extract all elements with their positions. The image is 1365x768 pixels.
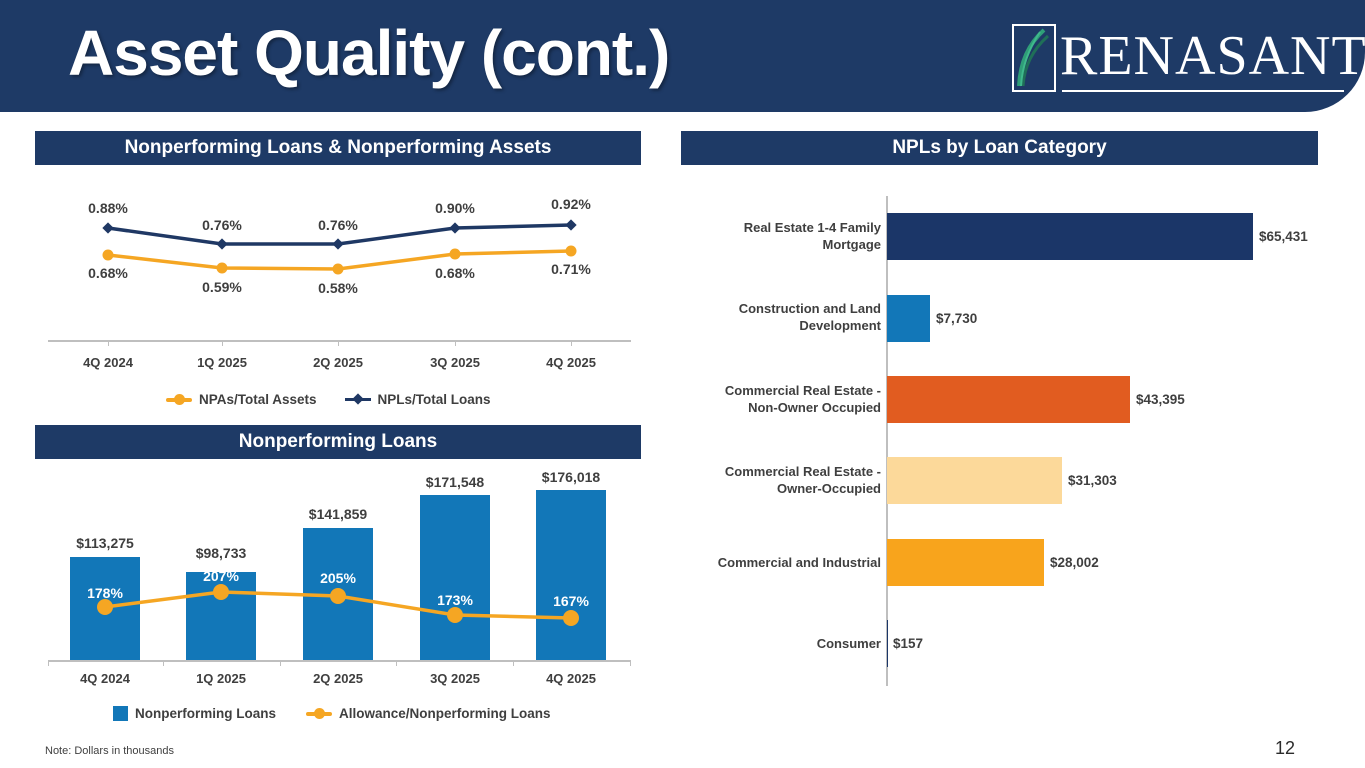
hbar-cat-5: Consumer (646, 635, 881, 652)
legend-item-npl-bars[interactable]: Nonperforming Loans (113, 706, 276, 721)
x2-tick-start (48, 660, 49, 666)
hbar-cat-1: Construction and Land Development (646, 300, 881, 334)
footnote: Note: Dollars in thousands (45, 745, 174, 757)
legend-swatch-npl-icon (113, 706, 128, 721)
pct-label-1: 207% (171, 568, 271, 584)
renasant-logo: RENASANT (1012, 24, 1344, 96)
logo-underline (1062, 90, 1344, 92)
x2-cat-label-0: 4Q 2024 (55, 671, 155, 686)
hbar-cat-4-line1: Commercial and Industrial (646, 554, 881, 571)
x2-cat-label-3: 3Q 2025 (405, 671, 505, 686)
logo-wordmark: RENASANT (1060, 28, 1365, 84)
x2-tick-3 (513, 660, 514, 666)
pct-label-0: 178% (55, 585, 155, 601)
hbar-cat-1-line2: Development (646, 317, 881, 334)
hbar-val-4: $28,002 (1050, 554, 1099, 571)
panel-title-npl-category: NPLs by Loan Category (681, 131, 1318, 165)
y-axis-line-3 (886, 196, 888, 686)
legend-marker-allowance-icon (306, 712, 332, 716)
hbar-val-2: $43,395 (1136, 391, 1185, 408)
x2-cat-label-4: 4Q 2025 (521, 671, 621, 686)
hbar-cat-0: Real Estate 1-4 Family Mortgage (646, 219, 881, 253)
x-axis-line-2 (48, 660, 631, 662)
legend-label-npl-bars: Nonperforming Loans (135, 706, 276, 721)
slide: Asset Quality (cont.) RENASANT Nonperfor… (0, 0, 1365, 768)
hbar-val-0: $65,431 (1259, 228, 1308, 245)
x2-tick-2 (396, 660, 397, 666)
hbar-val-3: $31,303 (1068, 472, 1117, 489)
hbar-cat-1-line1: Construction and Land (646, 300, 881, 317)
hbar-0[interactable] (887, 213, 1253, 260)
hbar-cat-2: Commercial Real Estate - Non-Owner Occup… (646, 382, 881, 416)
pct-label-2: 205% (288, 570, 388, 586)
logo-mark-icon (1012, 24, 1056, 92)
hbar-5[interactable] (887, 620, 888, 667)
x2-tick-4 (630, 660, 631, 666)
hbar-val-5: $157 (893, 635, 923, 652)
hbar-cat-3: Commercial Real Estate - Owner-Occupied (646, 463, 881, 497)
hbar-cat-4: Commercial and Industrial (646, 554, 881, 571)
hbar-cat-5-line1: Consumer (646, 635, 881, 652)
hbar-val-1: $7,730 (936, 310, 977, 327)
hbar-cat-3-line2: Owner-Occupied (646, 480, 881, 497)
hbar-cat-3-line1: Commercial Real Estate - (646, 463, 881, 480)
legend-item-allowance[interactable]: Allowance/Nonperforming Loans (306, 706, 551, 721)
hbar-2[interactable] (887, 376, 1130, 423)
hbar-3[interactable] (887, 457, 1062, 504)
hbar-cat-2-line1: Commercial Real Estate - (646, 382, 881, 399)
x2-cat-label-1: 1Q 2025 (171, 671, 271, 686)
hbar-cat-0-line2: Mortgage (646, 236, 881, 253)
page-number: 12 (1275, 738, 1295, 759)
x2-tick-1 (280, 660, 281, 666)
legend-npl-bars: Nonperforming Loans Allowance/Nonperform… (113, 706, 551, 721)
legend-label-allowance: Allowance/Nonperforming Loans (339, 706, 551, 721)
x2-tick-0 (163, 660, 164, 666)
hbar-cat-2-line2: Non-Owner Occupied (646, 399, 881, 416)
hbar-4[interactable] (887, 539, 1044, 586)
hbar-cat-0-line1: Real Estate 1-4 Family (646, 219, 881, 236)
x2-cat-label-2: 2Q 2025 (288, 671, 388, 686)
pct-label-3: 173% (405, 592, 505, 608)
pct-label-4: 167% (521, 593, 621, 609)
hbar-1[interactable] (887, 295, 930, 342)
